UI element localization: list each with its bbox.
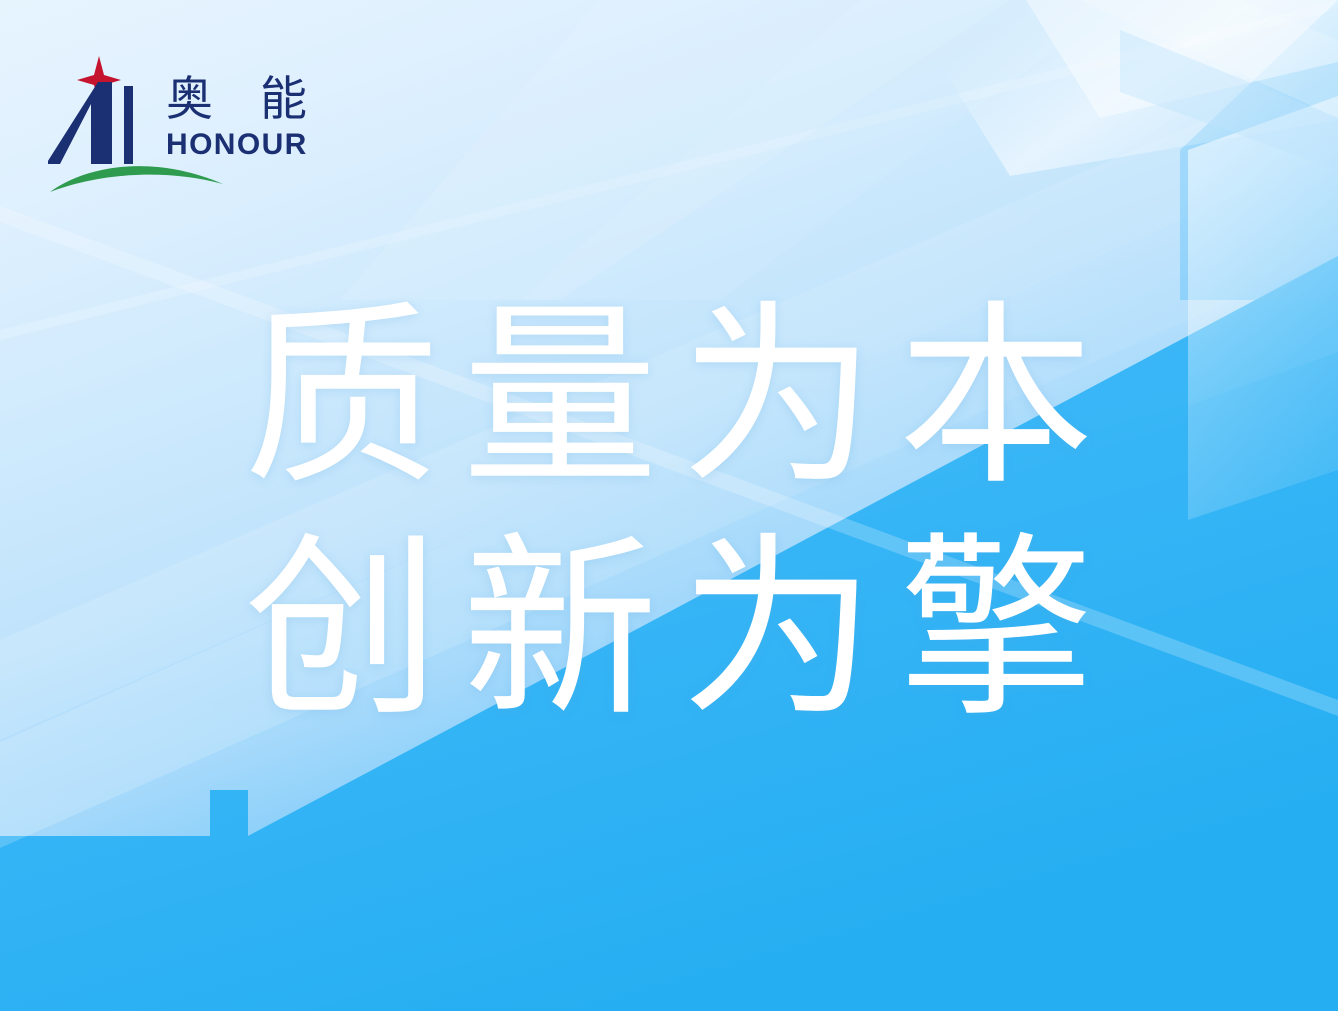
green-arc-swoosh-icon: [50, 166, 223, 192]
logo-mark-icon: [48, 52, 310, 197]
company-logo: 奥 能 HONOUR: [48, 52, 310, 197]
honour-a-mark-icon: [48, 82, 112, 164]
logo-vertical-bar-icon: [124, 86, 133, 164]
slogan-banner: 奥 能 HONOUR 质量为本 创新为擎: [0, 0, 1338, 1011]
